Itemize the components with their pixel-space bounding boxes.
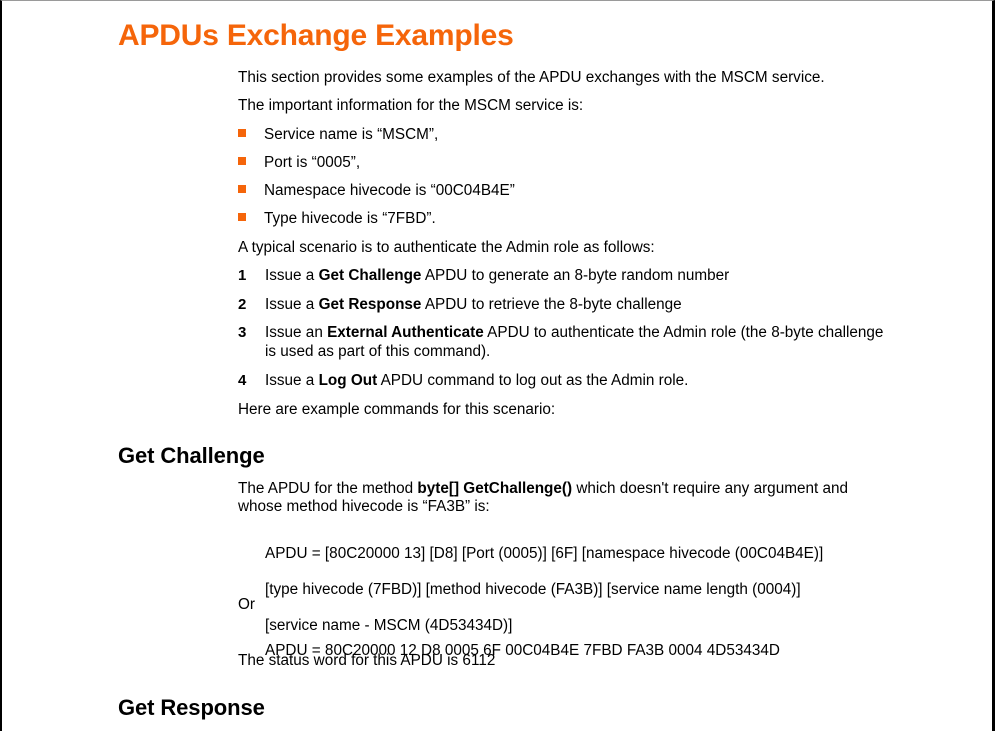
numbered-step: 4 Issue a Log Out APDU command to log ou… [238, 372, 898, 391]
list-item-label: Type hivecode is “7FBD”. [264, 210, 436, 227]
step-text-after: APDU command to log out as the Admin rol… [377, 372, 688, 389]
scenario-closing: Here are example commands for this scena… [238, 401, 555, 419]
section-heading-get-challenge: Get Challenge [118, 443, 265, 469]
step-number: 1 [238, 267, 256, 286]
apdu-expanded-line-2: [type hivecode (7FBD)] [method hivecode … [265, 581, 905, 599]
step-text-before: Issue a [265, 267, 319, 284]
step-text: Issue a Log Out APDU command to log out … [265, 372, 898, 391]
document-page: APDUs Exchange Examples This section pro… [0, 0, 995, 731]
numbered-step: 2 Issue a Get Response APDU to retrieve … [238, 296, 898, 315]
list-item-label: Namespace hivecode is “00C04B4E” [264, 182, 515, 199]
step-text-before: Issue a [265, 296, 319, 313]
step-text-emphasis: Get Response [319, 296, 422, 313]
intro-paragraph-1: This section provides some examples of t… [238, 69, 825, 87]
list-item: Type hivecode is “7FBD”. [238, 210, 436, 228]
description-method-name: byte[] GetChallenge() [417, 480, 572, 497]
page-title: APDUs Exchange Examples [118, 19, 514, 53]
step-text: Issue a Get Challenge APDU to generate a… [265, 267, 898, 286]
step-text-after: APDU to retrieve the 8-byte challenge [421, 296, 681, 313]
section-heading-get-response: Get Response [118, 695, 265, 721]
square-bullet-icon [238, 157, 246, 165]
step-text-before: Issue a [265, 372, 319, 389]
or-label: Or [238, 596, 255, 614]
square-bullet-icon [238, 129, 246, 137]
description-before: The APDU for the method [238, 480, 417, 497]
list-item: Port is “0005”, [238, 154, 360, 172]
square-bullet-icon [238, 213, 246, 221]
step-text-before: Issue an [265, 324, 327, 341]
list-item: Service name is “MSCM”, [238, 126, 438, 144]
numbered-step: 1 Issue a Get Challenge APDU to generate… [238, 267, 898, 286]
list-item: Namespace hivecode is “00C04B4E” [238, 182, 515, 200]
intro-paragraph-2: The important information for the MSCM s… [238, 97, 583, 115]
scenario-lead-in: A typical scenario is to authenticate th… [238, 239, 655, 257]
step-text-emphasis: Log Out [319, 372, 378, 389]
step-text-emphasis: Get Challenge [319, 267, 422, 284]
step-text: Issue a Get Response APDU to retrieve th… [265, 296, 898, 315]
status-word-text: The status word for this APDU is 6112 [238, 652, 495, 670]
list-item-label: Port is “0005”, [264, 154, 360, 171]
get-challenge-description: The APDU for the method byte[] GetChalle… [238, 480, 884, 516]
step-number: 3 [238, 324, 256, 343]
numbered-step: 3 Issue an External Authenticate APDU to… [238, 324, 898, 361]
step-text-emphasis: External Authenticate [327, 324, 484, 341]
page-content: APDUs Exchange Examples This section pro… [2, 1, 992, 731]
step-text-after: APDU to generate an 8-byte random number [421, 267, 729, 284]
step-number: 4 [238, 372, 256, 391]
step-number: 2 [238, 296, 256, 315]
apdu-expanded-line-1: APDU = [80C20000 13] [D8] [Port (0005)] … [265, 545, 905, 563]
list-item-label: Service name is “MSCM”, [264, 126, 438, 143]
step-text: Issue an External Authenticate APDU to a… [265, 324, 898, 361]
square-bullet-icon [238, 185, 246, 193]
